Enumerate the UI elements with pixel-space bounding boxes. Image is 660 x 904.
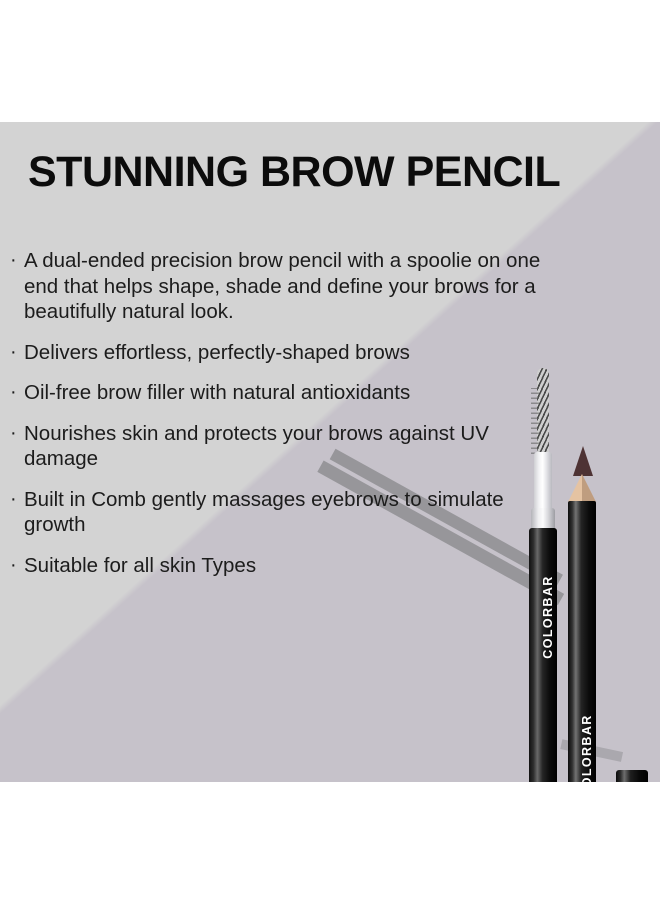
bullet-dot-icon: · <box>10 487 17 513</box>
bullet-dot-icon: · <box>10 380 17 406</box>
bullet-dot-icon: · <box>10 553 17 579</box>
list-item: · A dual-ended precision brow pencil wit… <box>8 248 553 325</box>
brand-logo-right: COLORBAR <box>580 713 594 782</box>
list-item-text: Built in Comb gently massages eyebrows t… <box>24 488 504 537</box>
pencil-barrel-right: COLORBAR <box>568 501 596 782</box>
list-item: · Suitable for all skin Types <box>8 553 553 579</box>
content-panel: COLORBAR COLORBAR STUNNING BROW PENCIL <box>0 122 660 782</box>
list-item: · Delivers effortless, perfectly-shaped … <box>8 340 553 366</box>
list-item: · Nourishes skin and protects your brows… <box>8 421 553 472</box>
page-title: STUNNING BROW PENCIL <box>28 148 560 197</box>
bullet-dot-icon: · <box>10 340 17 366</box>
list-item-text: Nourishes skin and protects your brows a… <box>24 422 489 471</box>
bullet-dot-icon: · <box>10 421 17 447</box>
list-item: · Oil-free brow filler with natural anti… <box>8 380 553 406</box>
pencil-lead-tip <box>573 446 593 476</box>
product-feature-image: COLORBAR COLORBAR STUNNING BROW PENCIL <box>0 0 660 904</box>
pencil-cap <box>616 770 648 782</box>
list-item-text: A dual-ended precision brow pencil with … <box>24 249 540 323</box>
list-item: · Built in Comb gently massages eyebrows… <box>8 487 553 538</box>
list-item-text: Suitable for all skin Types <box>24 554 256 577</box>
pencil-wood-shadow <box>582 474 596 502</box>
list-item-text: Delivers effortless, perfectly-shaped br… <box>24 341 410 364</box>
list-item-text: Oil-free brow filler with natural antiox… <box>24 381 410 404</box>
feature-list: · A dual-ended precision brow pencil wit… <box>8 248 553 593</box>
bullet-dot-icon: · <box>10 248 17 274</box>
brow-pencil-tip-end: COLORBAR <box>566 446 602 782</box>
